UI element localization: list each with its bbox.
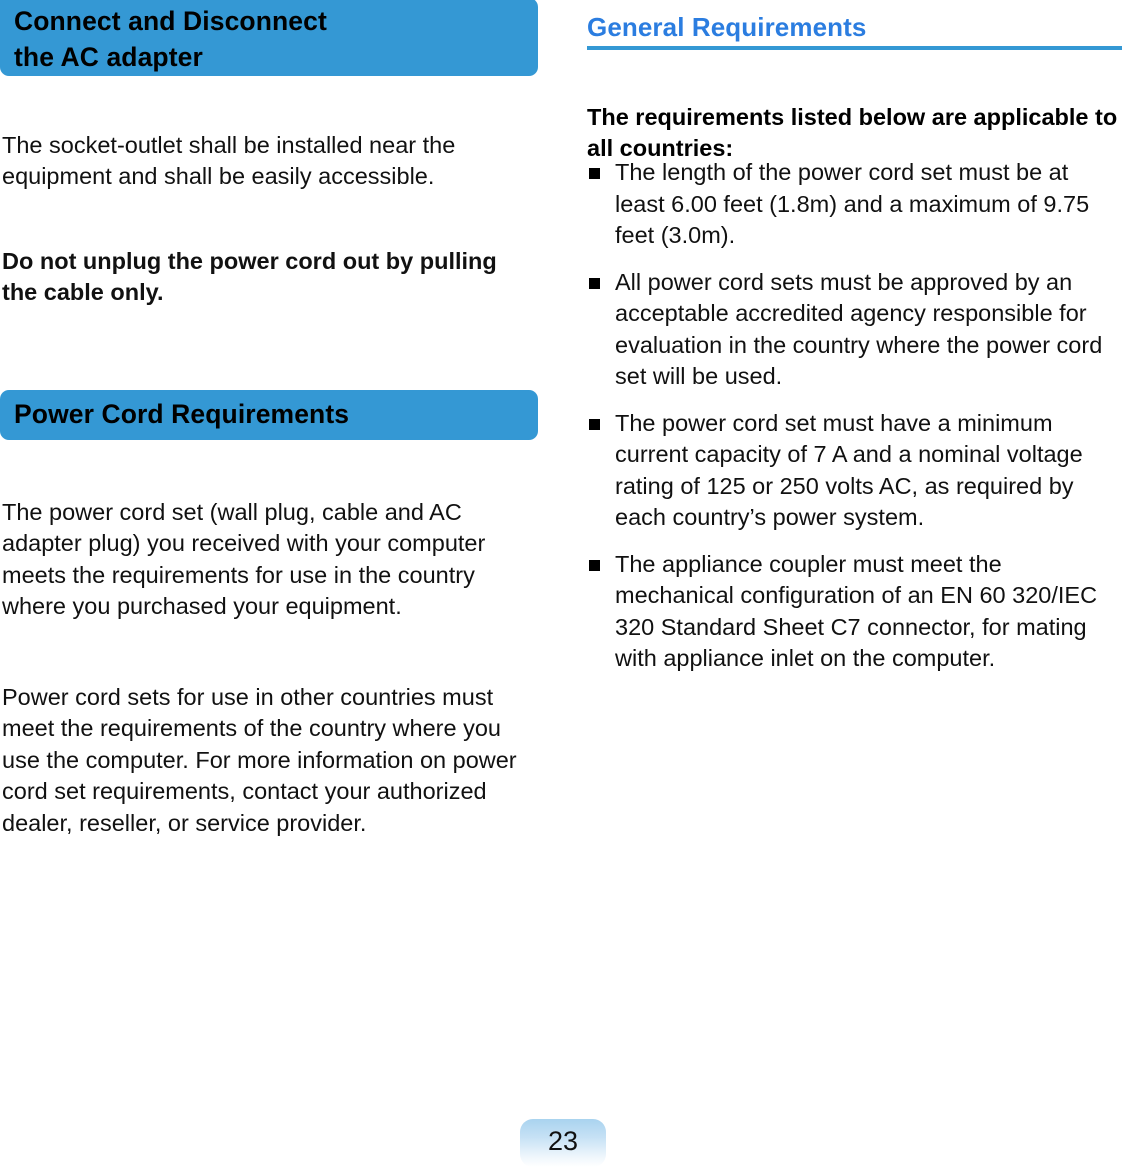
lead-paragraph-requirements: The requirements listed below are applic… — [587, 102, 1122, 164]
requirements-bullet-list: The length of the power cord set must be… — [587, 157, 1122, 690]
list-item: The length of the power cord set must be… — [587, 157, 1122, 252]
manual-page: Connect and Disconnect the AC adapter Th… — [0, 0, 1122, 1153]
paragraph-socket-outlet: The socket-outlet shall be installed nea… — [2, 130, 532, 193]
page-number: 23 — [520, 1119, 606, 1163]
list-item: The appliance coupler must meet the mech… — [587, 549, 1122, 675]
section-banner-line-1: Power Cord Requirements — [14, 396, 524, 432]
paragraph-do-not-unplug: Do not unplug the power cord out by pull… — [2, 246, 532, 309]
square-bullet-icon — [589, 168, 600, 179]
list-item: The power cord set must have a minimum c… — [587, 408, 1122, 534]
page-number-chip: 23 — [520, 1119, 606, 1167]
section-banner-line-2: the AC adapter — [14, 39, 524, 75]
section-banner-connect-disconnect: Connect and Disconnect the AC adapter — [0, 0, 538, 76]
square-bullet-icon — [589, 278, 600, 289]
list-item-text: All power cord sets must be approved by … — [615, 269, 1102, 390]
paragraph-other-countries: Power cord sets for use in other countri… — [2, 682, 532, 840]
list-item: All power cord sets must be approved by … — [587, 267, 1122, 393]
list-item-text: The power cord set must have a minimum c… — [615, 410, 1083, 531]
square-bullet-icon — [589, 560, 600, 571]
heading-underline-rule — [587, 46, 1122, 50]
paragraph-power-cord-set: The power cord set (wall plug, cable and… — [2, 497, 532, 623]
heading-general-requirements: General Requirements — [587, 12, 866, 42]
section-banner-power-cord-requirements: Power Cord Requirements — [0, 390, 538, 440]
list-item-text: The length of the power cord set must be… — [615, 159, 1089, 248]
list-item-text: The appliance coupler must meet the mech… — [615, 551, 1097, 672]
square-bullet-icon — [589, 419, 600, 430]
section-banner-line-1: Connect and Disconnect — [14, 3, 524, 39]
